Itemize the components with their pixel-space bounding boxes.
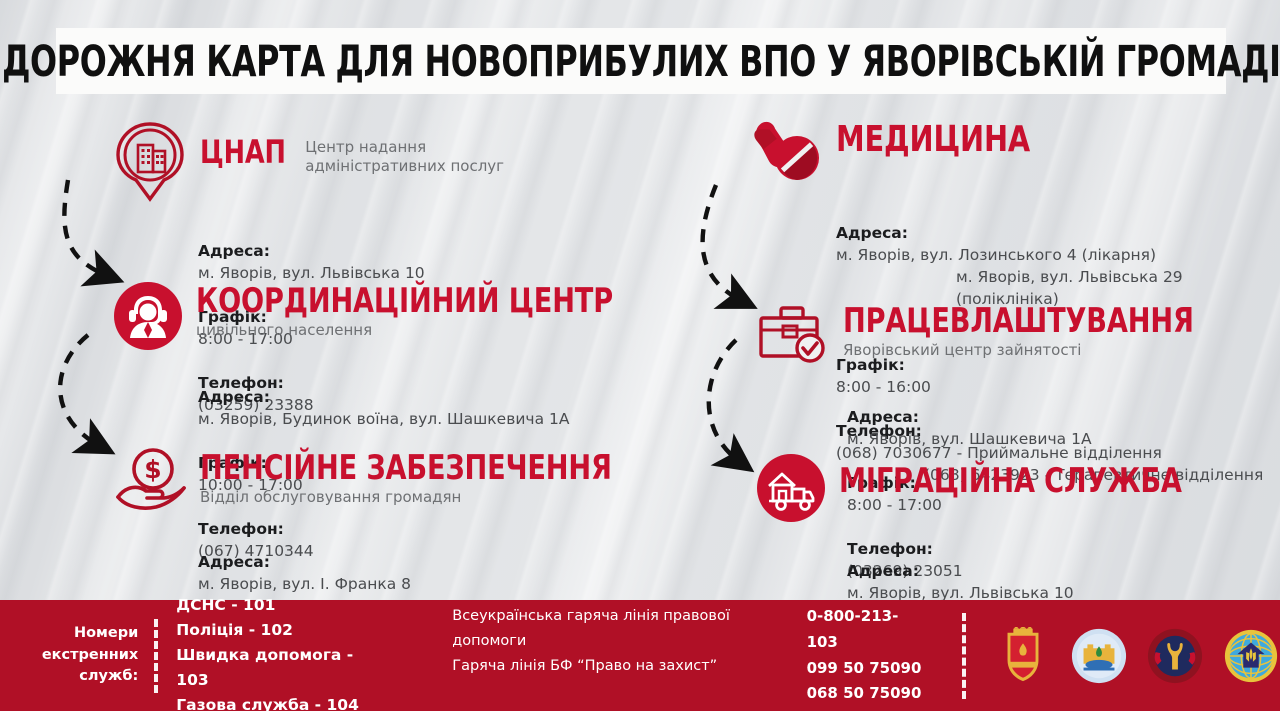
yavoriv-coat-of-arms-logo: [994, 627, 1052, 685]
address-value: м. Яворів, вул. Шашкевича 1А: [847, 430, 1092, 448]
map-pin-building-icon: [112, 120, 188, 204]
address-label: Адреса:: [847, 562, 919, 580]
emergency-numbers-list: ДСНС - 101 Поліція - 102 Швидка допомога…: [168, 593, 378, 711]
address-label: Адреса:: [847, 408, 919, 426]
org-name: ПРАЦЕВЛАШТУВАННЯ: [843, 304, 1194, 338]
briefcase-check-icon: [755, 300, 831, 370]
address-label: Адреса:: [198, 553, 270, 571]
org-name: КООРДИНАЦІЙНИЙ ЦЕНТР: [196, 284, 613, 318]
address-label: Адреса:: [198, 242, 270, 260]
address-label: Адреса:: [836, 224, 908, 242]
org-name: ПЕНСІЙНЕ ЗАБЕЗПЕЧЕННЯ: [200, 451, 612, 485]
address-value: м. Яворів, Будинок воїна, вул. Шашкевича…: [198, 410, 569, 428]
hotline-group: Всеукраїнська гаряча лінія правової допо…: [452, 604, 922, 707]
hotline-labels: Всеукраїнська гаряча лінія правової допо…: [452, 604, 786, 679]
address-row: Адреса: м. Яворів, вул. Львівська 10: [847, 538, 1275, 604]
emergency-footer: Номери екстренних служб: ДСНС - 101 Полі…: [0, 600, 1280, 711]
org-subtitle: Відділ обслуговування громадян: [200, 488, 715, 507]
partner-logos: [994, 627, 1280, 685]
org-subtitle: Центр надання адміністративних послуг: [293, 138, 504, 176]
address-row: Адреса: м. Яворів, вул. Львівська 10: [198, 218, 652, 284]
emergency-title: Номери екстренних служб:: [16, 623, 148, 688]
address-value: м. Яворів, вул. Лозинського 4 (лікарня): [836, 246, 1156, 264]
headset-operator-icon: [112, 280, 184, 352]
address-row: Адреса: м. Яворів, вул. Шашкевича 1А: [847, 384, 1275, 450]
address-row: Адреса: м. Яворів, вул. І. Франка 8: [198, 529, 672, 595]
address-label: Адреса:: [198, 388, 270, 406]
page-title-bar: ДОРОЖНЯ КАРТА ДЛЯ НОВОПРИБУЛИХ ВПО У ЯВО…: [56, 28, 1226, 94]
hand-coin-icon: $: [112, 445, 188, 515]
migration-service-logo: [1222, 627, 1280, 685]
org-name: ЦНАП: [200, 136, 286, 168]
footer-divider-right: [962, 613, 966, 699]
org-name: МІГРАЦІЙНА СЛУЖБА: [839, 464, 1182, 498]
employment-service-logo: [1146, 627, 1204, 685]
org-subtitle: цивільного населення: [196, 321, 717, 340]
community-council-logo: [1070, 627, 1128, 685]
left-column: ЦНАП Центр надання адміністративних посл…: [0, 100, 660, 600]
address-value: м. Яворів, вул. І. Франка 8: [198, 575, 411, 593]
hotline-numbers: 0-800-213-103 099 50 75090 068 50 75090: [807, 604, 922, 707]
footer-divider-left: [154, 619, 158, 693]
svg-text:$: $: [144, 455, 161, 484]
pills-icon: [750, 118, 824, 188]
page-title: ДОРОЖНЯ КАРТА ДЛЯ НОВОПРИБУЛИХ ВПО У ЯВО…: [2, 36, 1280, 86]
org-subtitle: Яворівський центр зайнятості: [843, 341, 1280, 360]
infographic-page: ДОРОЖНЯ КАРТА ДЛЯ НОВОПРИБУЛИХ ВПО У ЯВО…: [0, 0, 1280, 711]
address-row: Адреса: м. Яворів, Будинок воїна, вул. Ш…: [198, 364, 672, 430]
org-name: МЕДИЦИНА: [836, 122, 1030, 158]
house-truck-icon: [755, 452, 827, 524]
right-column: МЕДИЦИНА Адреса: м. Яворів, вул. Лозинсь…: [660, 100, 1280, 600]
